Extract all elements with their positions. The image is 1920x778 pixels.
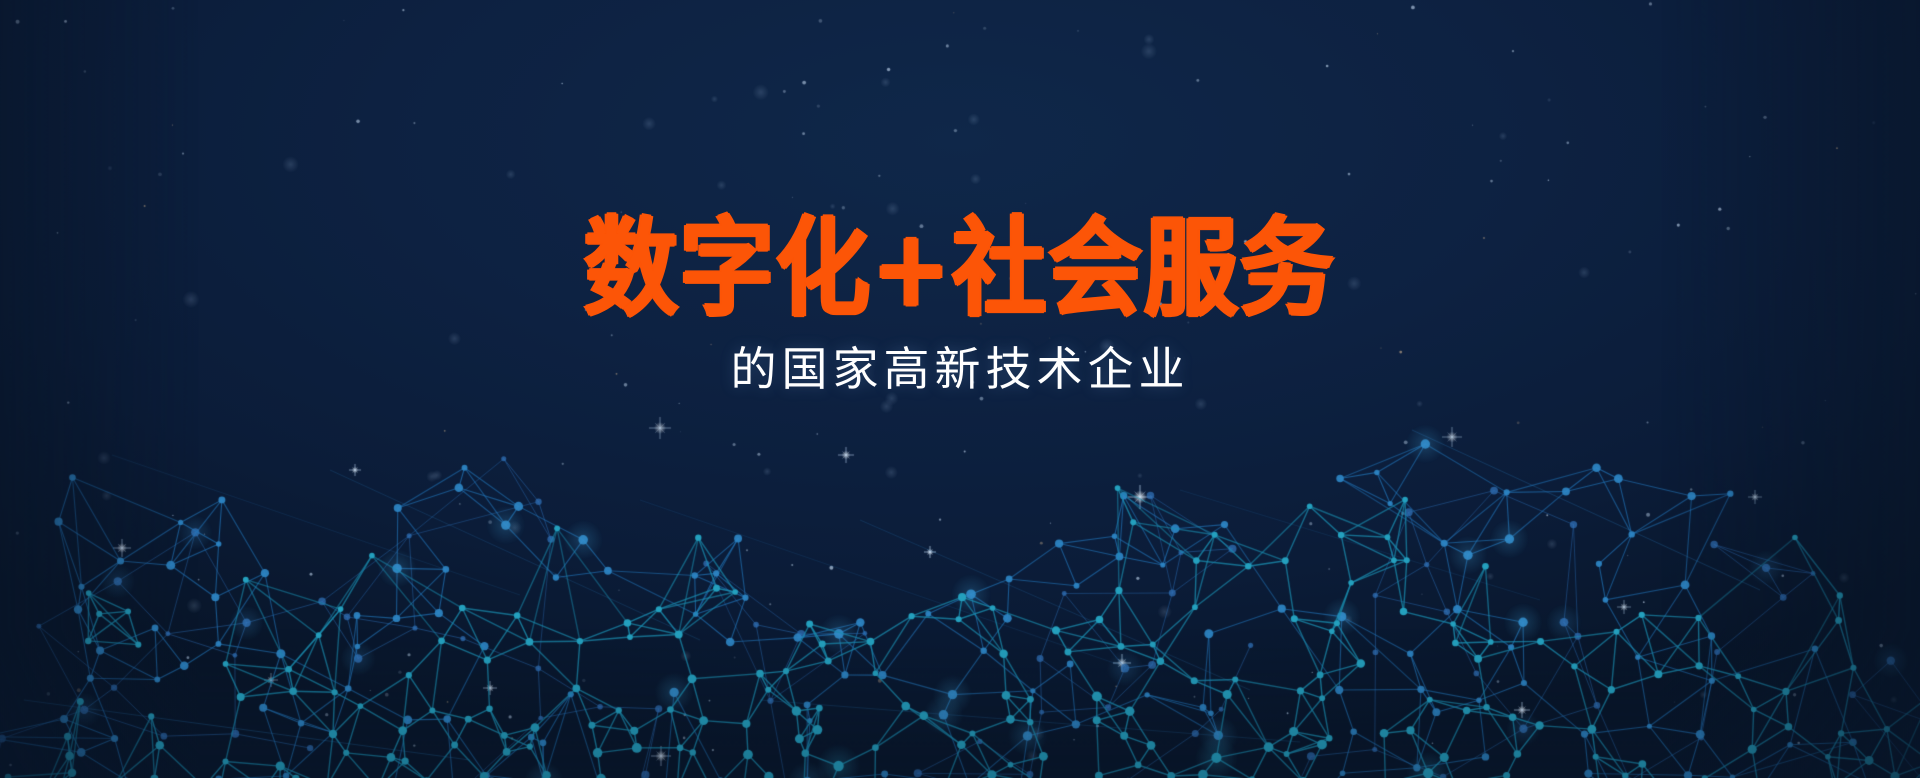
hero-banner: 数字化+社会服务 的国家高新技术企业 bbox=[0, 0, 1920, 778]
banner-text-block: 数字化+社会服务 的国家高新技术企业 bbox=[0, 216, 1920, 392]
banner-headline: 数字化+社会服务 bbox=[0, 216, 1920, 323]
